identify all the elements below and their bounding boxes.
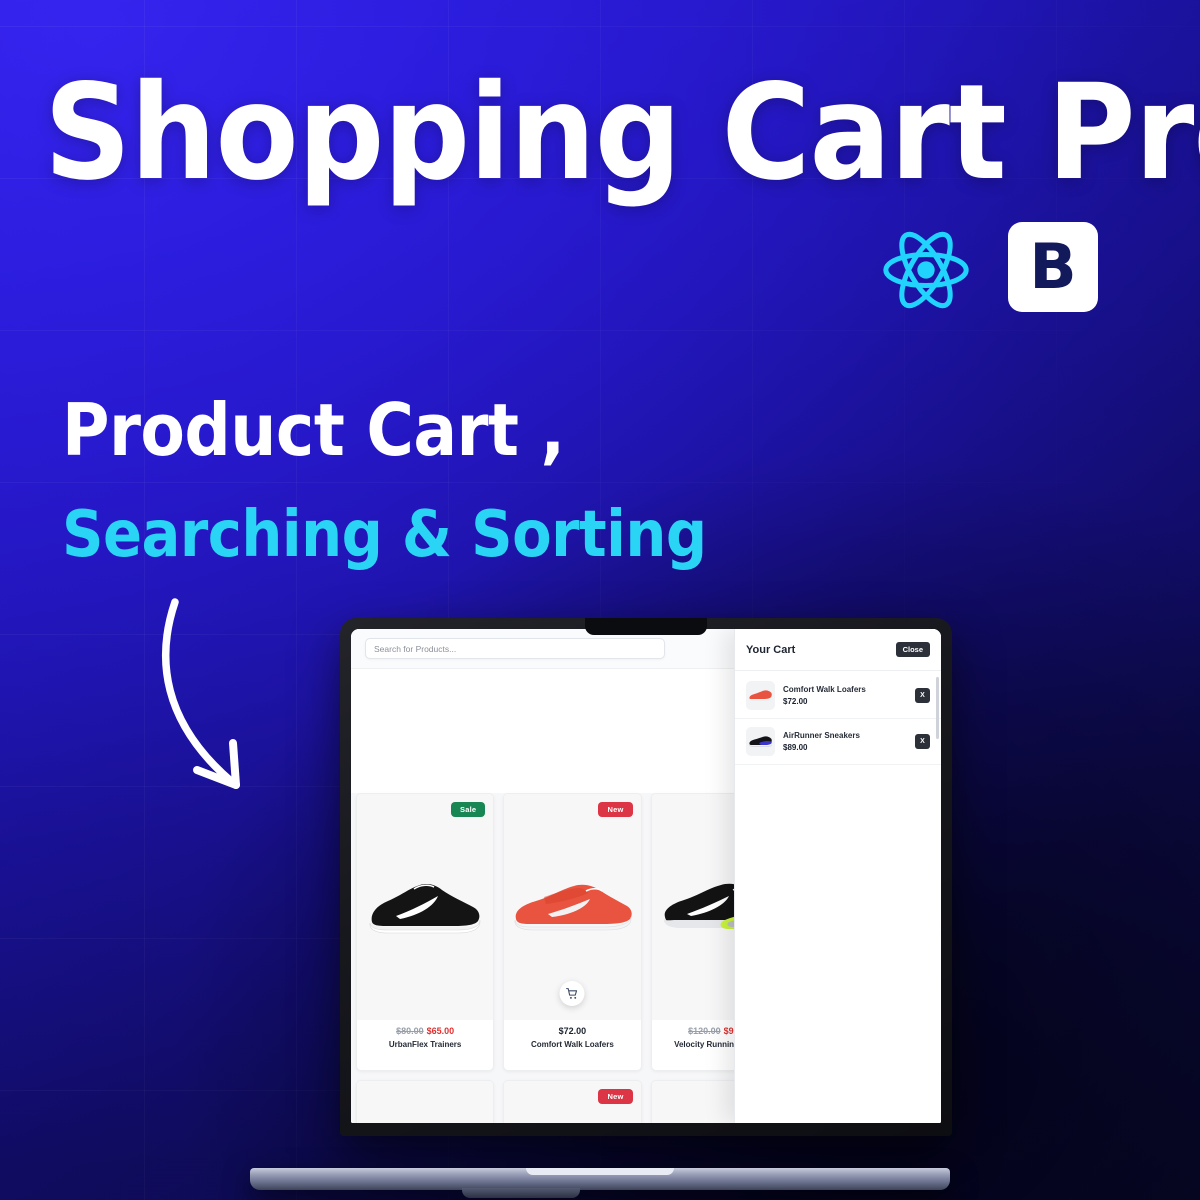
shoe-image-red — [508, 877, 636, 937]
product-name: Comfort Walk Loafers — [508, 1040, 636, 1049]
product-price-old: $80.00 — [396, 1026, 424, 1036]
product-price-new: $65.00 — [427, 1026, 455, 1036]
laptop-base — [250, 1168, 950, 1190]
cart-item-info: AirRunner Sneakers $89.00 — [783, 731, 907, 752]
product-badge: New — [598, 1089, 632, 1104]
product-card-body: $80.00$65.00 UrbanFlex Trainers — [357, 1020, 493, 1049]
product-badge: New — [598, 802, 632, 817]
product-price-line: $80.00$65.00 — [361, 1026, 489, 1036]
product-card[interactable]: New — [503, 1080, 641, 1123]
search-placeholder-text: Search for Products... — [374, 644, 456, 654]
shopping-cart-icon — [566, 987, 579, 1000]
product-price-old: $120.00 — [688, 1026, 721, 1036]
cart-item-thumbnail-red-shoe — [746, 681, 775, 710]
add-to-cart-button[interactable] — [560, 981, 585, 1006]
product-card[interactable]: New — [503, 793, 641, 1071]
page-title: Shopping Cart Project — [44, 68, 1105, 198]
product-image-area: Sale — [357, 794, 493, 1020]
cart-item: Comfort Walk Loafers $72.00 X — [735, 673, 941, 719]
cart-item-price: $72.00 — [783, 697, 907, 706]
cart-item-name: Comfort Walk Loafers — [783, 685, 907, 694]
shoe-image-black-white — [366, 876, 484, 938]
react-logo-icon — [880, 228, 972, 317]
product-badge: Sale — [451, 802, 485, 817]
close-cart-button[interactable]: Close — [896, 642, 930, 657]
cart-drawer-header: Your Cart Close — [735, 629, 941, 671]
product-image-area: New — [504, 794, 640, 1020]
shoe-thumb-navy — [748, 735, 773, 749]
product-card-body: $72.00 Comfort Walk Loafers — [504, 1020, 640, 1049]
search-input[interactable]: Search for Products... — [365, 638, 665, 659]
remove-cart-item-button[interactable]: X — [915, 734, 930, 749]
laptop-lid: Search for Products... All Products Sale — [340, 618, 952, 1136]
remove-cart-item-button[interactable]: X — [915, 688, 930, 703]
cart-title: Your Cart — [746, 644, 795, 656]
product-price-line: $72.00 — [508, 1026, 636, 1036]
laptop-base-foot — [462, 1188, 580, 1198]
shopping-cart-app: Search for Products... All Products Sale — [351, 629, 941, 1123]
cart-item-info: Comfort Walk Loafers $72.00 — [783, 685, 907, 706]
cart-scrollbar[interactable] — [936, 677, 939, 739]
cart-item-name: AirRunner Sneakers — [783, 731, 907, 740]
subtitle-line-2: Searching & Sorting — [62, 500, 707, 570]
cart-item: AirRunner Sneakers $89.00 X — [735, 719, 941, 765]
laptop-camera-notch — [585, 618, 707, 635]
product-card[interactable] — [356, 1080, 494, 1123]
cart-item-thumbnail-navy-shoe — [746, 727, 775, 756]
product-image-area: New — [504, 1081, 640, 1123]
product-image-area — [357, 1081, 493, 1123]
shoe-thumb-red — [748, 689, 773, 703]
product-name: UrbanFlex Trainers — [361, 1040, 489, 1049]
subtitle-line-1: Product Cart , — [62, 392, 565, 468]
tech-logo-group: B — [880, 222, 1100, 318]
cart-drawer: Your Cart Close — [734, 629, 941, 1123]
cart-items-list: Comfort Walk Loafers $72.00 X — [735, 671, 941, 1123]
product-card[interactable]: Sale $80.00$65.00 — [356, 793, 494, 1071]
bootstrap-logo-icon: B — [1008, 222, 1098, 312]
laptop-screen: Search for Products... All Products Sale — [351, 629, 941, 1123]
laptop-mockup: Search for Products... All Products Sale — [250, 618, 950, 1200]
cart-item-price: $89.00 — [783, 743, 907, 752]
